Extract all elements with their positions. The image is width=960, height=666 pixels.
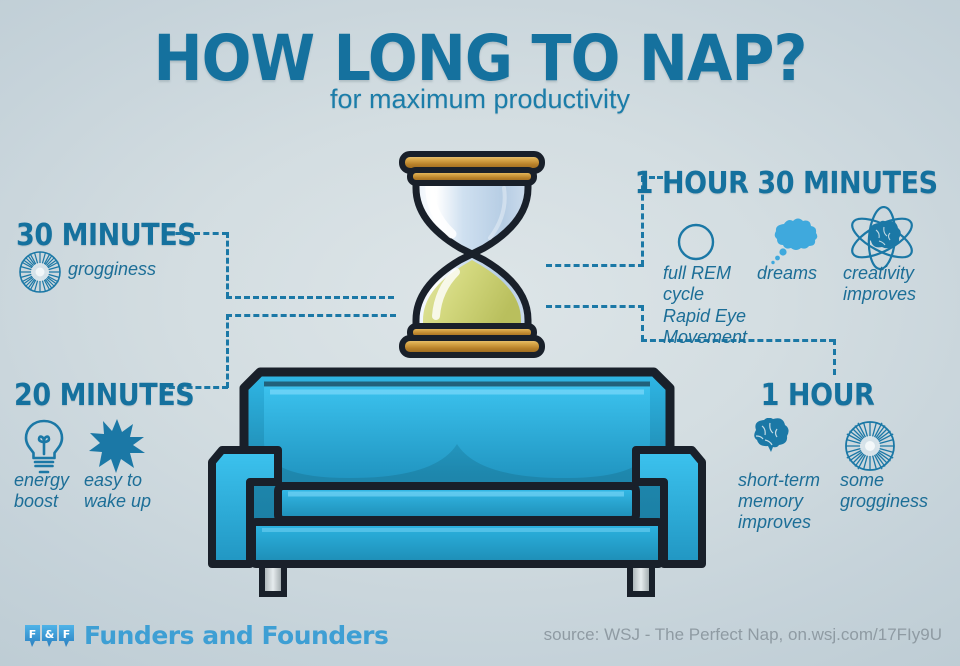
caption-some-grogginess: some grogginess [840,470,950,512]
brand-name: Funders and Founders [84,621,388,650]
caption-short-term-memory-improves: short-term memory improves [738,470,834,533]
connector-60min-segment-d [833,339,836,375]
brain-icon [744,418,794,465]
hourglass-illustration [392,148,552,360]
caption-energy-boost: energy boost [14,470,80,512]
svg-text:F: F [29,628,37,641]
caption-line: energy [14,470,80,491]
caption-line: creativity [843,263,943,284]
caption-line: improves [843,284,943,305]
connector-60min-segment-a [546,305,644,308]
caption-sub-line: Movement [663,327,755,348]
section-label-30-minutes: 30 MINUTES [16,218,196,253]
connector-20min-segment-c [226,314,396,317]
connector-30min-segment-b [226,232,229,298]
connector-90min-segment-a [546,264,644,267]
caption-line: some [840,470,950,491]
caption-line: easy to [84,470,168,491]
infographic-poster: HOW LONG TO NAP? for maximum productivit… [0,0,960,666]
caption-line: boost [14,491,80,512]
caption-line: improves [738,512,834,533]
section-label-1-hour-30-minutes: 1 HOUR 30 MINUTES [635,166,938,201]
page-subtitle: for maximum productivity [0,84,960,115]
section-label-20-minutes: 20 MINUTES [14,378,194,413]
caption-full-rem-cycle: full REM cycle Rapid Eye Movement [663,263,755,348]
funders-and-founders-logo[interactable]: F & F [24,622,76,650]
svg-text:&: & [45,628,55,641]
sunburst-icon [18,250,62,299]
caption-line: full REM [663,263,755,284]
connector-60min-segment-b [641,305,644,341]
caption-line: short-term [738,470,834,491]
caption-sub-line: Rapid Eye [663,306,755,327]
circle-icon [676,222,716,267]
connector-30min-segment-c [226,296,394,299]
caption-line: grogginess [840,491,950,512]
caption-easy-to-wake-up: easy to wake up [84,470,168,512]
caption-line: cycle [663,284,755,305]
caption-grogginess: grogginess [68,259,156,280]
couch-illustration [192,358,722,598]
source-attribution: source: WSJ - The Perfect Nap, on.wsj.co… [544,625,942,645]
caption-line: wake up [84,491,168,512]
caption-line: memory [738,491,834,512]
sunburst-icon [844,420,896,477]
svg-text:F: F [63,628,71,641]
caption-dreams: dreams [757,263,837,284]
section-label-1-hour: 1 HOUR [760,378,874,413]
caption-creativity-improves: creativity improves [843,263,943,305]
